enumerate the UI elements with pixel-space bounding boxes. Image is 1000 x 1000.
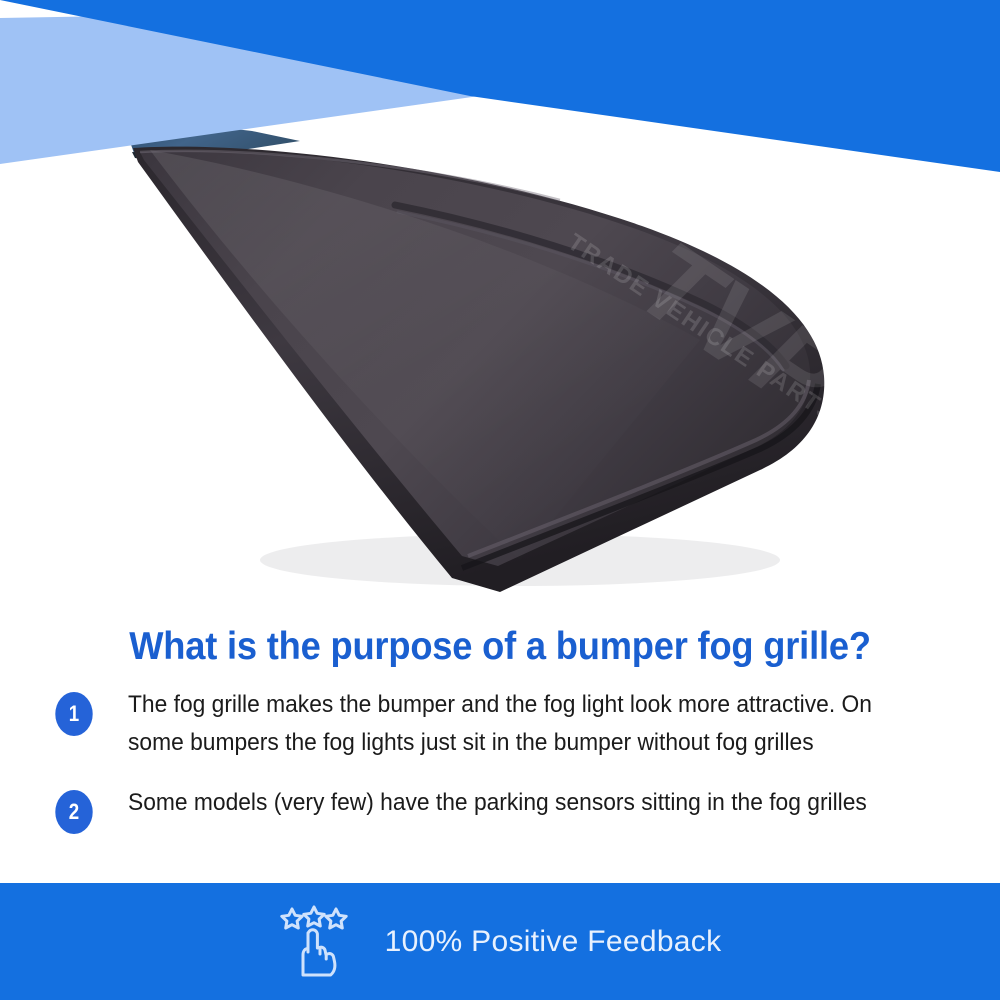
footer-banner: 100% Positive Feedback bbox=[0, 883, 1000, 1000]
list-item-number-badge: 1 bbox=[55, 692, 92, 736]
list-item-number-badge: 2 bbox=[55, 790, 92, 834]
fact-list: 1 The fog grille makes the bumper and th… bbox=[52, 686, 952, 856]
decorative-diagonal-banner bbox=[0, 0, 1000, 200]
hand-three-stars-rating-icon bbox=[279, 903, 351, 981]
positive-feedback-label: 100% Positive Feedback bbox=[385, 925, 722, 959]
list-item-text: The fog grille makes the bumper and the … bbox=[128, 686, 911, 762]
product-infographic-page: TVP TRADE VEHICLE PARTS What is the purp… bbox=[0, 0, 1000, 1000]
list-item-text: Some models (very few) have the parking … bbox=[128, 784, 911, 822]
list-item: 2 Some models (very few) have the parkin… bbox=[52, 784, 952, 834]
page-title: What is the purpose of a bumper fog gril… bbox=[35, 624, 965, 670]
list-item: 1 The fog grille makes the bumper and th… bbox=[52, 686, 952, 762]
